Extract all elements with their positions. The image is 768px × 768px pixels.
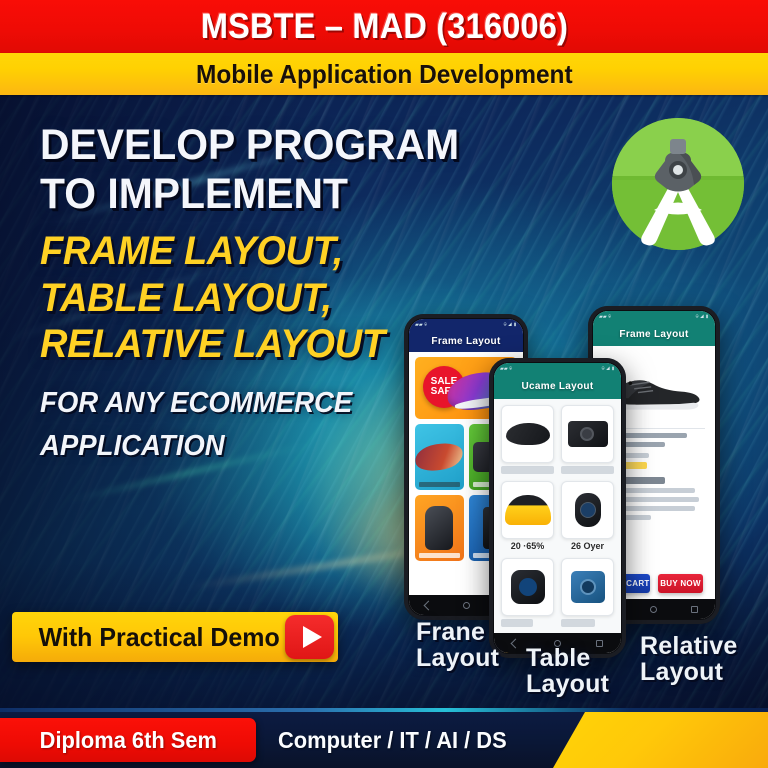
- product-label-placeholder: [501, 466, 554, 474]
- poster-canvas: MSBTE – MAD (316006) Mobile Application …: [0, 0, 768, 768]
- status-bar: ▰▰ ⌾ ⌾ ◢ ▮: [494, 363, 621, 374]
- nav-back-icon[interactable]: [510, 638, 520, 648]
- table-cell[interactable]: 26 Oyer: [561, 481, 614, 551]
- phone-screen: ▰▰ ⌾ ⌾ ◢ ▮ Ucame Layout: [494, 363, 621, 653]
- headline-sub-2: APPLICATION: [40, 430, 487, 463]
- headline-block: DEVELOP PROGRAM TO IMPLEMENT FRAME LAYOU…: [40, 124, 510, 463]
- practical-demo-label: With Practical Demo: [17, 622, 279, 653]
- product-label-placeholder: [501, 619, 533, 627]
- youtube-play-icon[interactable]: [285, 615, 334, 659]
- footer-yellow-wedge: [553, 712, 768, 768]
- app-bar-title: Frame Layout: [619, 329, 688, 340]
- play-triangle-icon: [303, 626, 322, 648]
- product-price: 20 ·65%: [501, 541, 554, 551]
- product-image-cap: [505, 495, 551, 525]
- nav-recents-icon[interactable]: [691, 606, 698, 613]
- practical-demo-bar[interactable]: With Practical Demo: [12, 612, 338, 662]
- nav-home-icon[interactable]: [650, 606, 657, 613]
- product-image-watch: [511, 570, 545, 604]
- product-card[interactable]: [561, 558, 614, 616]
- status-right-icons: ⌾ ◢ ▮: [602, 366, 615, 372]
- footer-bar: Diploma 6th Sem Computer / IT / AI / DS: [0, 712, 768, 768]
- status-right-icons: ⌾ ◢ ▮: [696, 314, 709, 320]
- headline-sub-1: FOR ANY ECOMMERCE: [40, 387, 487, 420]
- diploma-badge: Diploma 6th Sem: [0, 718, 256, 762]
- app-bar-title: Ucame Layout: [522, 381, 594, 392]
- product-label-placeholder: [561, 619, 595, 627]
- table-cell[interactable]: 20 ·65%: [501, 481, 554, 551]
- branches-text: Computer / IT / AI / DS: [278, 727, 507, 754]
- caption-table-layout-line-2: Layout: [526, 672, 609, 698]
- product-tile-caption: [419, 553, 460, 558]
- table-cell[interactable]: [501, 558, 554, 627]
- product-price: 26 Oyer: [561, 541, 614, 551]
- android-studio-logo: [608, 114, 748, 254]
- product-label-placeholder: [561, 466, 614, 474]
- course-code-text: MSBTE – MAD (316006): [200, 7, 567, 47]
- product-tile-caption: [419, 482, 460, 487]
- caption-frame-layout: Frane Layout: [416, 620, 499, 671]
- product-image-watch: [575, 493, 601, 527]
- headline-highlight-2: TABLE LAYOUT,: [40, 278, 487, 319]
- app-bar: Frame Layout: [593, 322, 715, 346]
- caption-frame-layout-line-1: Frane: [416, 620, 499, 646]
- caption-table-layout: Table Layout: [526, 646, 609, 697]
- product-table: 20 ·65% 26 Oyer: [501, 405, 614, 653]
- product-tile[interactable]: [415, 495, 464, 561]
- product-image-camera: [568, 421, 608, 447]
- table-cell[interactable]: [561, 558, 614, 627]
- app-bar: Ucame Layout: [494, 374, 621, 399]
- course-name-band: Mobile Application Development: [0, 53, 768, 95]
- nav-home-icon[interactable]: [463, 602, 470, 609]
- product-card[interactable]: [501, 558, 554, 616]
- caption-relative-layout-line-1: Relative: [640, 634, 738, 660]
- buy-now-button[interactable]: BUY NOW: [658, 574, 703, 593]
- status-left-icons: ▰▰ ⌾: [599, 314, 611, 320]
- caption-table-layout-line-1: Table: [526, 646, 609, 672]
- product-card[interactable]: [501, 481, 554, 539]
- product-image-backpack: [425, 506, 453, 550]
- nav-back-icon[interactable]: [423, 600, 433, 610]
- caption-frame-layout-line-2: Layout: [416, 646, 499, 672]
- diploma-badge-text: Diploma 6th Sem: [39, 727, 216, 754]
- product-card[interactable]: [561, 405, 614, 463]
- caption-relative-layout-line-2: Layout: [640, 660, 738, 686]
- branches-block: Computer / IT / AI / DS: [272, 712, 513, 768]
- status-bar: ▰▰ ⌾ ⌾ ◢ ▮: [593, 311, 715, 322]
- course-name-text: Mobile Application Development: [196, 59, 573, 90]
- table-cell[interactable]: [561, 405, 614, 474]
- headline-highlight-1: FRAME LAYOUT,: [40, 231, 487, 272]
- headline-line-2: TO IMPLEMENT: [40, 173, 487, 217]
- product-card[interactable]: [561, 481, 614, 539]
- headline-line-1: DEVELOP PROGRAM: [40, 124, 487, 168]
- product-image-camera: [571, 571, 605, 603]
- course-code-band: MSBTE – MAD (316006): [0, 0, 768, 53]
- caption-relative-layout: Relative Layout: [640, 634, 738, 685]
- product-image-shoe: [506, 423, 550, 445]
- headline-highlight-3: RELATIVE LAYOUT: [40, 324, 487, 365]
